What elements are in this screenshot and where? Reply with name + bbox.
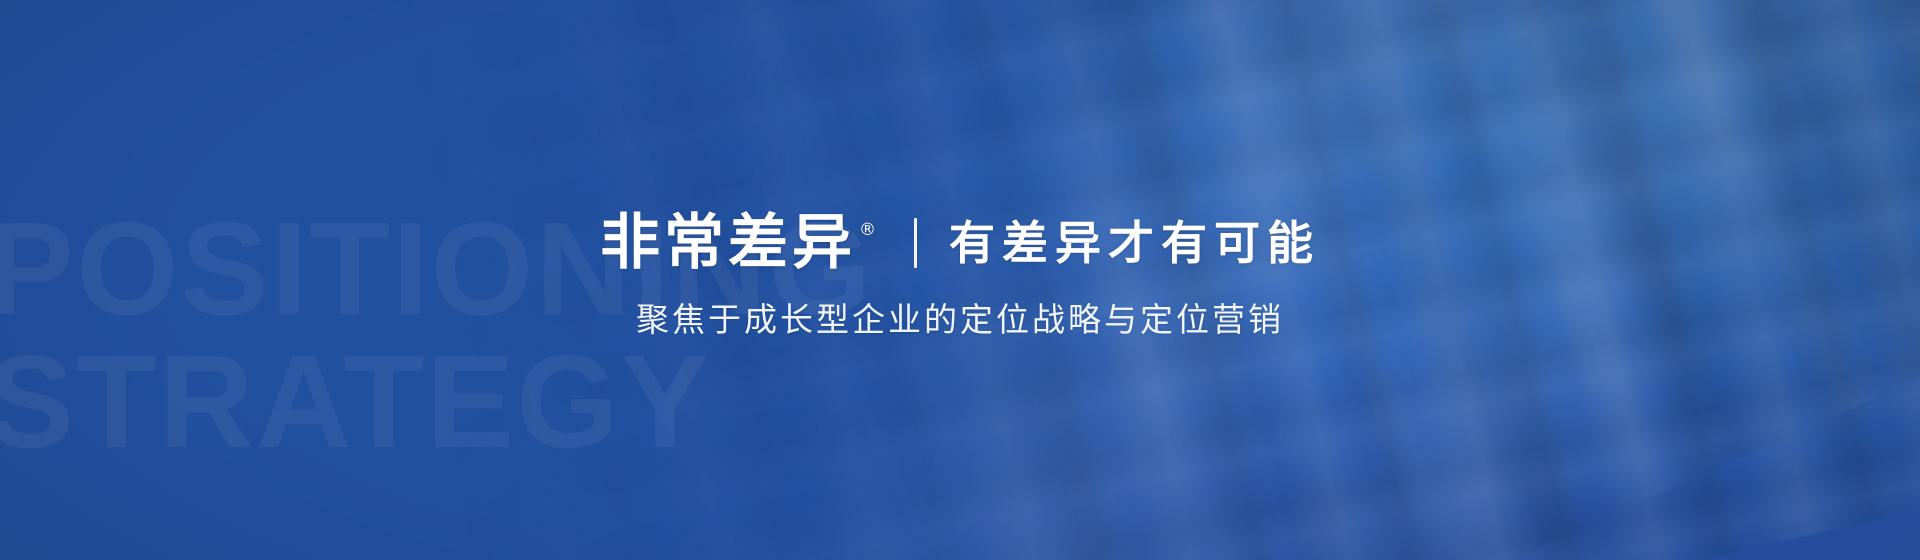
- banner-content: 非常差异 ® 有差异才有可能 聚焦于成长型企业的定位战略与定位营销: [0, 0, 1920, 560]
- vertical-divider: [914, 218, 917, 268]
- logo-row: 非常差异 ® 有差异才有可能: [600, 213, 1320, 273]
- brand-tagline: 有差异才有可能: [949, 220, 1320, 266]
- brand-logo: 非常差异 ®: [600, 213, 880, 273]
- registered-trademark-icon: ®: [859, 222, 880, 239]
- banner-subtitle: 聚焦于成长型企业的定位战略与定位营销: [636, 303, 1284, 336]
- hero-banner: POSITIONING STRATEGY 非常差异 ® 有差异才有可能 聚焦于成…: [0, 0, 1920, 560]
- brand-name-text: 非常差异: [600, 213, 856, 273]
